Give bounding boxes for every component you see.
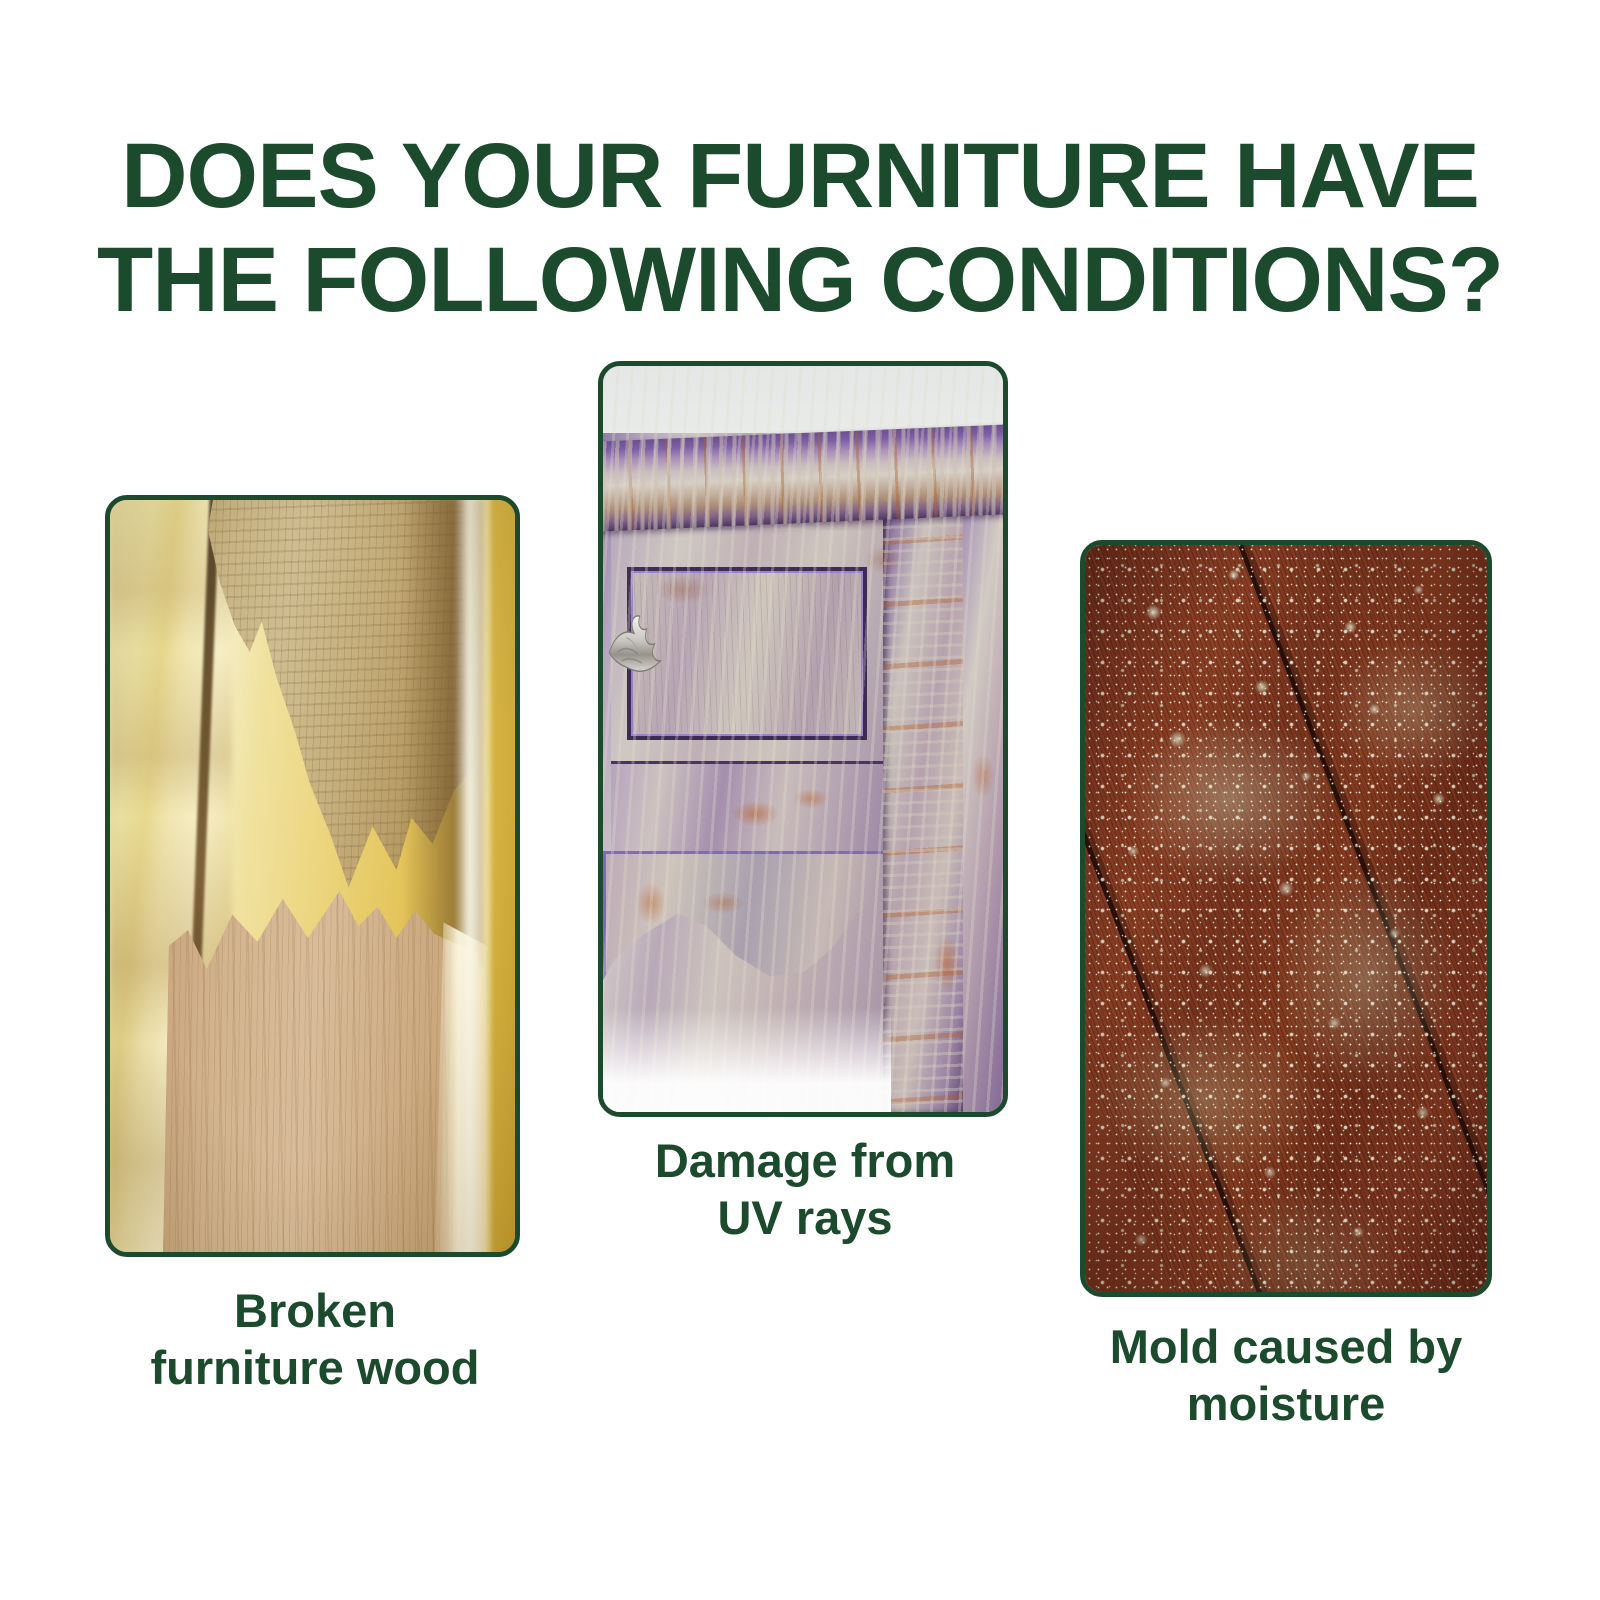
condition-card-mold (1080, 540, 1492, 1297)
condition-card-uv-damage (598, 361, 1008, 1117)
condition-card-broken-wood (105, 495, 520, 1257)
mold-photo (1085, 545, 1487, 1292)
page-title: DOES YOUR FURNITURE HAVE THE FOLLOWING C… (0, 124, 1600, 332)
broken-wood-photo (110, 500, 515, 1252)
poster-canvas: DOES YOUR FURNITURE HAVE THE FOLLOWING C… (0, 0, 1600, 1600)
caption-mold: Mold caused by moisture (1030, 1318, 1542, 1432)
ornate-drawer-pull-icon (607, 612, 675, 687)
page-title-line-2: THE FOLLOWING CONDITIONS? (0, 228, 1600, 332)
caption-uv-damage: Damage from UV rays (600, 1132, 1010, 1246)
uv-damage-photo (603, 366, 1003, 1112)
page-title-line-1: DOES YOUR FURNITURE HAVE (0, 124, 1600, 228)
caption-broken-wood: Broken furniture wood (75, 1282, 555, 1396)
